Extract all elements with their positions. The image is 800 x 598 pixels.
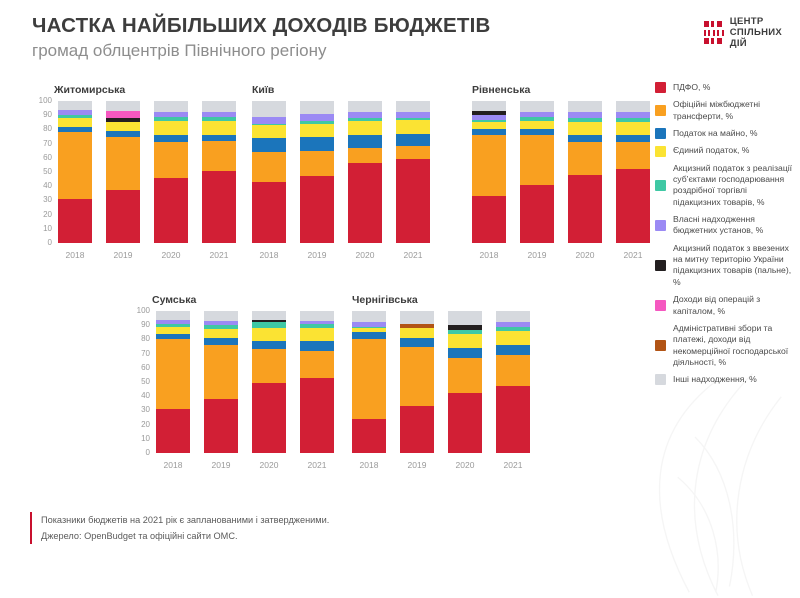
legend-label: Адміністративні збори та платежі, доходи… bbox=[673, 323, 795, 368]
x-axis-label: 2018 bbox=[58, 250, 92, 260]
legend-swatch-icon bbox=[655, 374, 666, 385]
bar-segment bbox=[472, 122, 506, 129]
bar-segment bbox=[520, 101, 554, 112]
bar-segment bbox=[496, 386, 530, 453]
legend-swatch-icon bbox=[655, 82, 666, 93]
footer-accent-bar bbox=[30, 512, 32, 544]
bar-segment bbox=[106, 101, 140, 111]
footer-source: Джерело: OpenBudget та офіційні сайти ОМ… bbox=[41, 528, 329, 544]
x-axis-label: 2018 bbox=[156, 460, 190, 470]
legend-label: ПДФО, % bbox=[673, 82, 710, 93]
bar-segment bbox=[400, 311, 434, 324]
y-axis-tick: 0 bbox=[128, 449, 150, 457]
bar-segment bbox=[156, 311, 190, 320]
bar-segment bbox=[448, 311, 482, 325]
bar-segment bbox=[300, 341, 334, 351]
logo-mark-icon bbox=[704, 21, 724, 44]
y-axis-tick: 40 bbox=[128, 392, 150, 400]
bar-column[interactable]: 2018 bbox=[352, 311, 386, 470]
stacked-bar[interactable] bbox=[400, 311, 434, 453]
legend-item: Єдиний податок, % bbox=[655, 145, 795, 156]
x-axis-label: 2021 bbox=[496, 460, 530, 470]
bar-segment bbox=[448, 393, 482, 453]
bar-segment bbox=[58, 118, 92, 127]
legend-label: Офіційні міжбюджетні трансферти, % bbox=[673, 99, 795, 122]
bar-segment bbox=[106, 137, 140, 191]
chart-panel-title: Київ bbox=[252, 84, 274, 96]
bar-column[interactable]: 2020 bbox=[348, 101, 382, 260]
y-axis-tick: 10 bbox=[128, 435, 150, 443]
y-axis-tick: 50 bbox=[128, 378, 150, 386]
y-axis-tick: 10 bbox=[30, 225, 52, 233]
y-axis-tick: 100 bbox=[30, 97, 52, 105]
bar-column[interactable]: 2019 bbox=[204, 311, 238, 470]
chart-panel-title: Рівненська bbox=[472, 84, 530, 96]
page-subtitle: громад облцентрів Північного регіону bbox=[32, 41, 632, 61]
bar-segment bbox=[252, 101, 286, 117]
bar-segment bbox=[202, 171, 236, 243]
legend-swatch-icon bbox=[655, 260, 666, 271]
bar-segment bbox=[448, 334, 482, 348]
bar-column[interactable]: 2019 bbox=[400, 311, 434, 470]
legend-label: Доходи від операцій з капіталом, % bbox=[673, 294, 795, 317]
bar-segment bbox=[300, 176, 334, 243]
y-axis-tick: 50 bbox=[30, 168, 52, 176]
bar-column[interactable]: 2018 bbox=[252, 101, 286, 260]
bar-segment bbox=[58, 101, 92, 110]
stacked-bar[interactable] bbox=[616, 101, 650, 243]
bar-segment bbox=[616, 122, 650, 135]
y-axis-tick: 20 bbox=[128, 421, 150, 429]
logo-text: ЦЕНТР СПІЛЬНИХ ДІЙ bbox=[730, 16, 782, 50]
legend-swatch-icon bbox=[655, 300, 666, 311]
bar-column[interactable]: 2018 bbox=[472, 101, 506, 260]
legend-item: Інші надходження, % bbox=[655, 374, 795, 385]
bar-segment bbox=[396, 146, 430, 159]
bar-segment bbox=[300, 137, 334, 151]
legend-item: Акцизний податок з ввезених на митну тер… bbox=[655, 243, 795, 288]
bar-group: 2018201920202021 bbox=[352, 311, 530, 470]
bar-segment bbox=[400, 406, 434, 453]
y-axis-tick: 40 bbox=[30, 182, 52, 190]
bar-segment bbox=[520, 121, 554, 130]
bar-segment bbox=[106, 122, 140, 131]
bar-column[interactable]: 2020 bbox=[448, 311, 482, 470]
bar-segment bbox=[252, 152, 286, 182]
bar-segment bbox=[252, 311, 286, 320]
bar-segment bbox=[348, 148, 382, 164]
bar-segment bbox=[396, 120, 430, 134]
stacked-bar[interactable] bbox=[348, 101, 382, 243]
stacked-bar[interactable] bbox=[300, 101, 334, 243]
bar-segment bbox=[300, 114, 334, 121]
stacked-bar[interactable] bbox=[472, 101, 506, 243]
x-axis-label: 2021 bbox=[300, 460, 334, 470]
legend-swatch-icon bbox=[655, 340, 666, 351]
bar-segment bbox=[616, 142, 650, 169]
bar-segment bbox=[400, 338, 434, 347]
legend-label: Єдиний податок, % bbox=[673, 145, 749, 156]
bar-segment bbox=[352, 339, 386, 419]
legend-label: Акцизний податок з ввезених на митну тер… bbox=[673, 243, 795, 288]
bar-segment bbox=[348, 163, 382, 243]
bar-column[interactable]: 2020 bbox=[154, 101, 188, 260]
bar-segment bbox=[156, 409, 190, 453]
y-axis-tick: 60 bbox=[128, 364, 150, 372]
bar-segment bbox=[496, 355, 530, 386]
stacked-bar[interactable] bbox=[520, 101, 554, 243]
y-axis-tick: 60 bbox=[30, 154, 52, 162]
legend-swatch-icon bbox=[655, 146, 666, 157]
bar-column[interactable]: 2019 bbox=[300, 101, 334, 260]
bar-segment bbox=[252, 328, 286, 341]
bar-segment bbox=[472, 196, 506, 243]
bar-segment bbox=[204, 345, 238, 399]
bar-segment bbox=[156, 339, 190, 409]
bar-column[interactable]: 2020 bbox=[252, 311, 286, 470]
x-axis-label: 2019 bbox=[400, 460, 434, 470]
stacked-bar[interactable] bbox=[568, 101, 602, 243]
legend-item: Податок на майно, % bbox=[655, 128, 795, 139]
bar-segment bbox=[154, 121, 188, 135]
bar-segment bbox=[396, 101, 430, 112]
x-axis-label: 2021 bbox=[616, 250, 650, 260]
chart-panel-title: Житомирська bbox=[54, 84, 125, 96]
bar-segment bbox=[300, 351, 334, 378]
bar-segment bbox=[202, 101, 236, 112]
bar-segment bbox=[252, 125, 286, 138]
bar-segment bbox=[400, 328, 434, 338]
bar-segment bbox=[448, 358, 482, 394]
bar-segment bbox=[300, 101, 334, 114]
bar-segment bbox=[568, 135, 602, 142]
stacked-bar[interactable] bbox=[448, 311, 482, 453]
x-axis-label: 2020 bbox=[568, 250, 602, 260]
x-axis-label: 2019 bbox=[204, 460, 238, 470]
x-axis-label: 2018 bbox=[472, 250, 506, 260]
bar-column[interactable]: 2021 bbox=[300, 311, 334, 470]
stacked-bar[interactable] bbox=[496, 311, 530, 453]
stacked-bar[interactable] bbox=[352, 311, 386, 453]
y-axis-tick: 90 bbox=[128, 321, 150, 329]
bar-segment bbox=[520, 185, 554, 243]
x-axis-label: 2020 bbox=[154, 250, 188, 260]
chart-legend: ПДФО, %Офіційні міжбюджетні трансферти, … bbox=[655, 82, 795, 392]
bar-segment bbox=[496, 345, 530, 355]
y-axis-tick: 20 bbox=[30, 211, 52, 219]
x-axis-label: 2019 bbox=[300, 250, 334, 260]
bar-segment bbox=[396, 134, 430, 147]
y-axis-tick: 70 bbox=[128, 350, 150, 358]
bar-segment bbox=[154, 178, 188, 243]
y-axis-tick: 80 bbox=[128, 335, 150, 343]
bar-segment bbox=[252, 117, 286, 124]
y-axis-tick: 30 bbox=[30, 196, 52, 204]
bar-group: 2018201920202021 bbox=[472, 101, 650, 260]
legend-swatch-icon bbox=[655, 220, 666, 231]
bar-segment bbox=[300, 311, 334, 321]
bar-segment bbox=[448, 348, 482, 358]
stacked-bar[interactable] bbox=[252, 311, 286, 453]
bar-segment bbox=[616, 169, 650, 243]
stacked-bar[interactable] bbox=[204, 311, 238, 453]
bar-segment bbox=[202, 121, 236, 135]
bar-segment bbox=[348, 101, 382, 112]
x-axis-label: 2021 bbox=[202, 250, 236, 260]
bar-column[interactable]: 2019 bbox=[106, 101, 140, 260]
y-axis: 0102030405060708090100 bbox=[128, 311, 150, 453]
bar-segment bbox=[252, 383, 286, 453]
bar-group: 2018201920202021 bbox=[252, 101, 430, 260]
bar-segment bbox=[204, 399, 238, 453]
bar-column[interactable]: 2019 bbox=[520, 101, 554, 260]
page-header: ЧАСТКА НАЙБІЛЬШИХ ДОХОДІВ БЮДЖЕТІВ грома… bbox=[32, 14, 632, 61]
bar-segment bbox=[400, 347, 434, 407]
stacked-bar[interactable] bbox=[156, 311, 190, 453]
legend-item: Доходи від операцій з капіталом, % bbox=[655, 294, 795, 317]
bar-segment bbox=[154, 101, 188, 112]
y-axis-tick: 30 bbox=[128, 406, 150, 414]
bar-segment bbox=[252, 182, 286, 243]
stacked-bar[interactable] bbox=[202, 101, 236, 243]
stacked-bar[interactable] bbox=[154, 101, 188, 243]
bar-column[interactable]: 2021 bbox=[396, 101, 430, 260]
bar-segment bbox=[616, 101, 650, 112]
bar-segment bbox=[520, 135, 554, 185]
y-axis-tick: 100 bbox=[128, 307, 150, 315]
legend-label: Власні надходження бюджетних установ, % bbox=[673, 214, 795, 237]
legend-label: Акцизний податок з реалізації суб’єктами… bbox=[673, 163, 795, 208]
bar-column[interactable]: 2018 bbox=[58, 101, 92, 260]
x-axis-label: 2019 bbox=[106, 250, 140, 260]
bar-column[interactable]: 2021 bbox=[496, 311, 530, 470]
bar-segment bbox=[300, 378, 334, 453]
stacked-bar[interactable] bbox=[252, 101, 286, 243]
bar-segment bbox=[58, 132, 92, 199]
chart-panel-title: Сумська bbox=[152, 294, 196, 306]
x-axis-label: 2020 bbox=[252, 460, 286, 470]
x-axis-label: 2019 bbox=[520, 250, 554, 260]
bar-segment bbox=[252, 138, 286, 152]
bar-segment bbox=[348, 135, 382, 148]
y-axis-tick: 80 bbox=[30, 125, 52, 133]
logo: ЦЕНТР СПІЛЬНИХ ДІЙ bbox=[704, 16, 782, 50]
bar-segment bbox=[568, 101, 602, 112]
chart-panel-title: Чернігівська bbox=[352, 294, 418, 306]
stacked-bar[interactable] bbox=[396, 101, 430, 243]
legend-item: Власні надходження бюджетних установ, % bbox=[655, 214, 795, 237]
y-axis: 0102030405060708090100 bbox=[30, 101, 52, 243]
bar-segment bbox=[156, 327, 190, 334]
stacked-bar[interactable] bbox=[300, 311, 334, 453]
decorative-watermark bbox=[580, 368, 800, 598]
footer-note: Показники бюджетів на 2021 рік є заплано… bbox=[41, 512, 329, 528]
legend-item: Акцизний податок з реалізації суб’єктами… bbox=[655, 163, 795, 208]
bar-segment bbox=[568, 122, 602, 135]
legend-swatch-icon bbox=[655, 180, 666, 191]
bar-segment bbox=[472, 101, 506, 111]
bar-segment bbox=[352, 332, 386, 339]
bar-column[interactable]: 2020 bbox=[568, 101, 602, 260]
bar-segment bbox=[348, 121, 382, 135]
bar-column[interactable]: 2018 bbox=[156, 311, 190, 470]
legend-label: Податок на майно, % bbox=[673, 128, 757, 139]
bar-segment bbox=[154, 135, 188, 142]
footer: Показники бюджетів на 2021 рік є заплано… bbox=[30, 512, 329, 544]
x-axis-label: 2020 bbox=[448, 460, 482, 470]
x-axis-label: 2018 bbox=[252, 250, 286, 260]
legend-item: Адміністративні збори та платежі, доходи… bbox=[655, 323, 795, 368]
legend-label: Інші надходження, % bbox=[673, 374, 757, 385]
bar-column[interactable]: 2021 bbox=[616, 101, 650, 260]
legend-item: ПДФО, % bbox=[655, 82, 795, 93]
legend-swatch-icon bbox=[655, 105, 666, 116]
bar-segment bbox=[106, 190, 140, 243]
bar-segment bbox=[496, 311, 530, 322]
bar-group: 2018201920202021 bbox=[58, 101, 236, 260]
bar-segment bbox=[252, 349, 286, 383]
legend-item: Офіційні міжбюджетні трансферти, % bbox=[655, 99, 795, 122]
x-axis-label: 2021 bbox=[396, 250, 430, 260]
bar-segment bbox=[204, 311, 238, 321]
bar-segment bbox=[568, 142, 602, 175]
y-axis-tick: 70 bbox=[30, 140, 52, 148]
bar-segment bbox=[352, 419, 386, 453]
bar-segment bbox=[300, 124, 334, 137]
bar-segment bbox=[396, 159, 430, 243]
x-axis-label: 2018 bbox=[352, 460, 386, 470]
bar-segment bbox=[472, 135, 506, 196]
bar-segment bbox=[352, 311, 386, 322]
stacked-bar[interactable] bbox=[106, 101, 140, 243]
bar-segment bbox=[204, 338, 238, 345]
bar-segment bbox=[496, 331, 530, 345]
bar-segment bbox=[616, 135, 650, 142]
y-axis-tick: 0 bbox=[30, 239, 52, 247]
bar-segment bbox=[300, 328, 334, 341]
bar-segment bbox=[202, 141, 236, 171]
bar-segment bbox=[106, 111, 140, 118]
bar-segment bbox=[568, 175, 602, 243]
bar-segment bbox=[252, 341, 286, 350]
bar-group: 2018201920202021 bbox=[156, 311, 334, 470]
x-axis-label: 2020 bbox=[348, 250, 382, 260]
bar-segment bbox=[204, 329, 238, 338]
bar-column[interactable]: 2021 bbox=[202, 101, 236, 260]
legend-swatch-icon bbox=[655, 128, 666, 139]
stacked-bar[interactable] bbox=[58, 101, 92, 243]
bar-segment bbox=[154, 142, 188, 178]
y-axis-tick: 90 bbox=[30, 111, 52, 119]
page-title: ЧАСТКА НАЙБІЛЬШИХ ДОХОДІВ БЮДЖЕТІВ bbox=[32, 14, 632, 38]
bar-segment bbox=[300, 151, 334, 177]
bar-segment bbox=[58, 199, 92, 243]
